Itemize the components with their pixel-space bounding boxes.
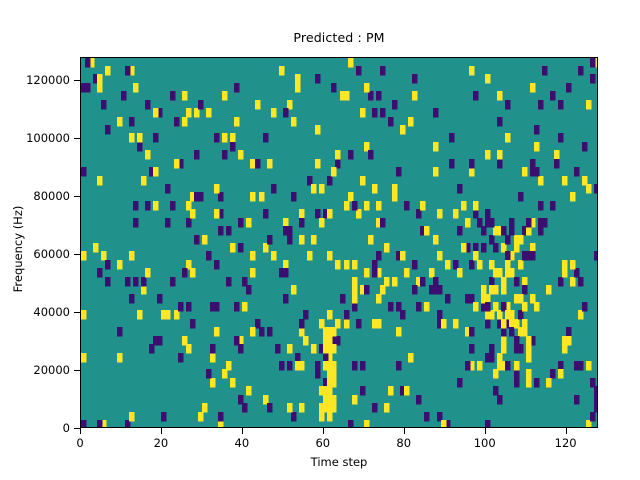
- page-title: Predicted : PM: [80, 30, 598, 45]
- y-tick-label: 120000: [0, 73, 74, 87]
- x-tick-label: 0: [50, 436, 110, 450]
- x-tick-mark: [323, 428, 324, 434]
- y-tick-label: 0: [0, 421, 74, 435]
- x-tick-mark: [80, 428, 81, 434]
- x-tick-label: 60: [293, 436, 353, 450]
- y-tick-mark: [74, 312, 80, 313]
- y-tick-mark: [74, 254, 80, 255]
- x-tick-label: 100: [455, 436, 515, 450]
- x-axis-label: Time step: [80, 455, 598, 469]
- x-tick-mark: [161, 428, 162, 434]
- heatmap-axes[interactable]: [80, 57, 598, 428]
- heatmap-canvas[interactable]: [81, 58, 598, 428]
- y-tick-mark: [74, 196, 80, 197]
- y-tick-mark: [74, 138, 80, 139]
- y-tick-mark: [74, 370, 80, 371]
- y-tick-mark: [74, 80, 80, 81]
- x-tick-mark: [566, 428, 567, 434]
- x-tick-mark: [404, 428, 405, 434]
- x-tick-mark: [242, 428, 243, 434]
- y-tick-label: 100000: [0, 131, 74, 145]
- x-tick-label: 40: [212, 436, 272, 450]
- x-tick-label: 20: [131, 436, 191, 450]
- y-axis-label: Frequency (Hz): [11, 159, 25, 339]
- x-tick-label: 120: [536, 436, 596, 450]
- x-tick-label: 80: [374, 436, 434, 450]
- y-tick-label: 20000: [0, 363, 74, 377]
- x-tick-mark: [485, 428, 486, 434]
- matplotlib-figure: Predicted : PM 0200004000060000800001000…: [0, 0, 640, 480]
